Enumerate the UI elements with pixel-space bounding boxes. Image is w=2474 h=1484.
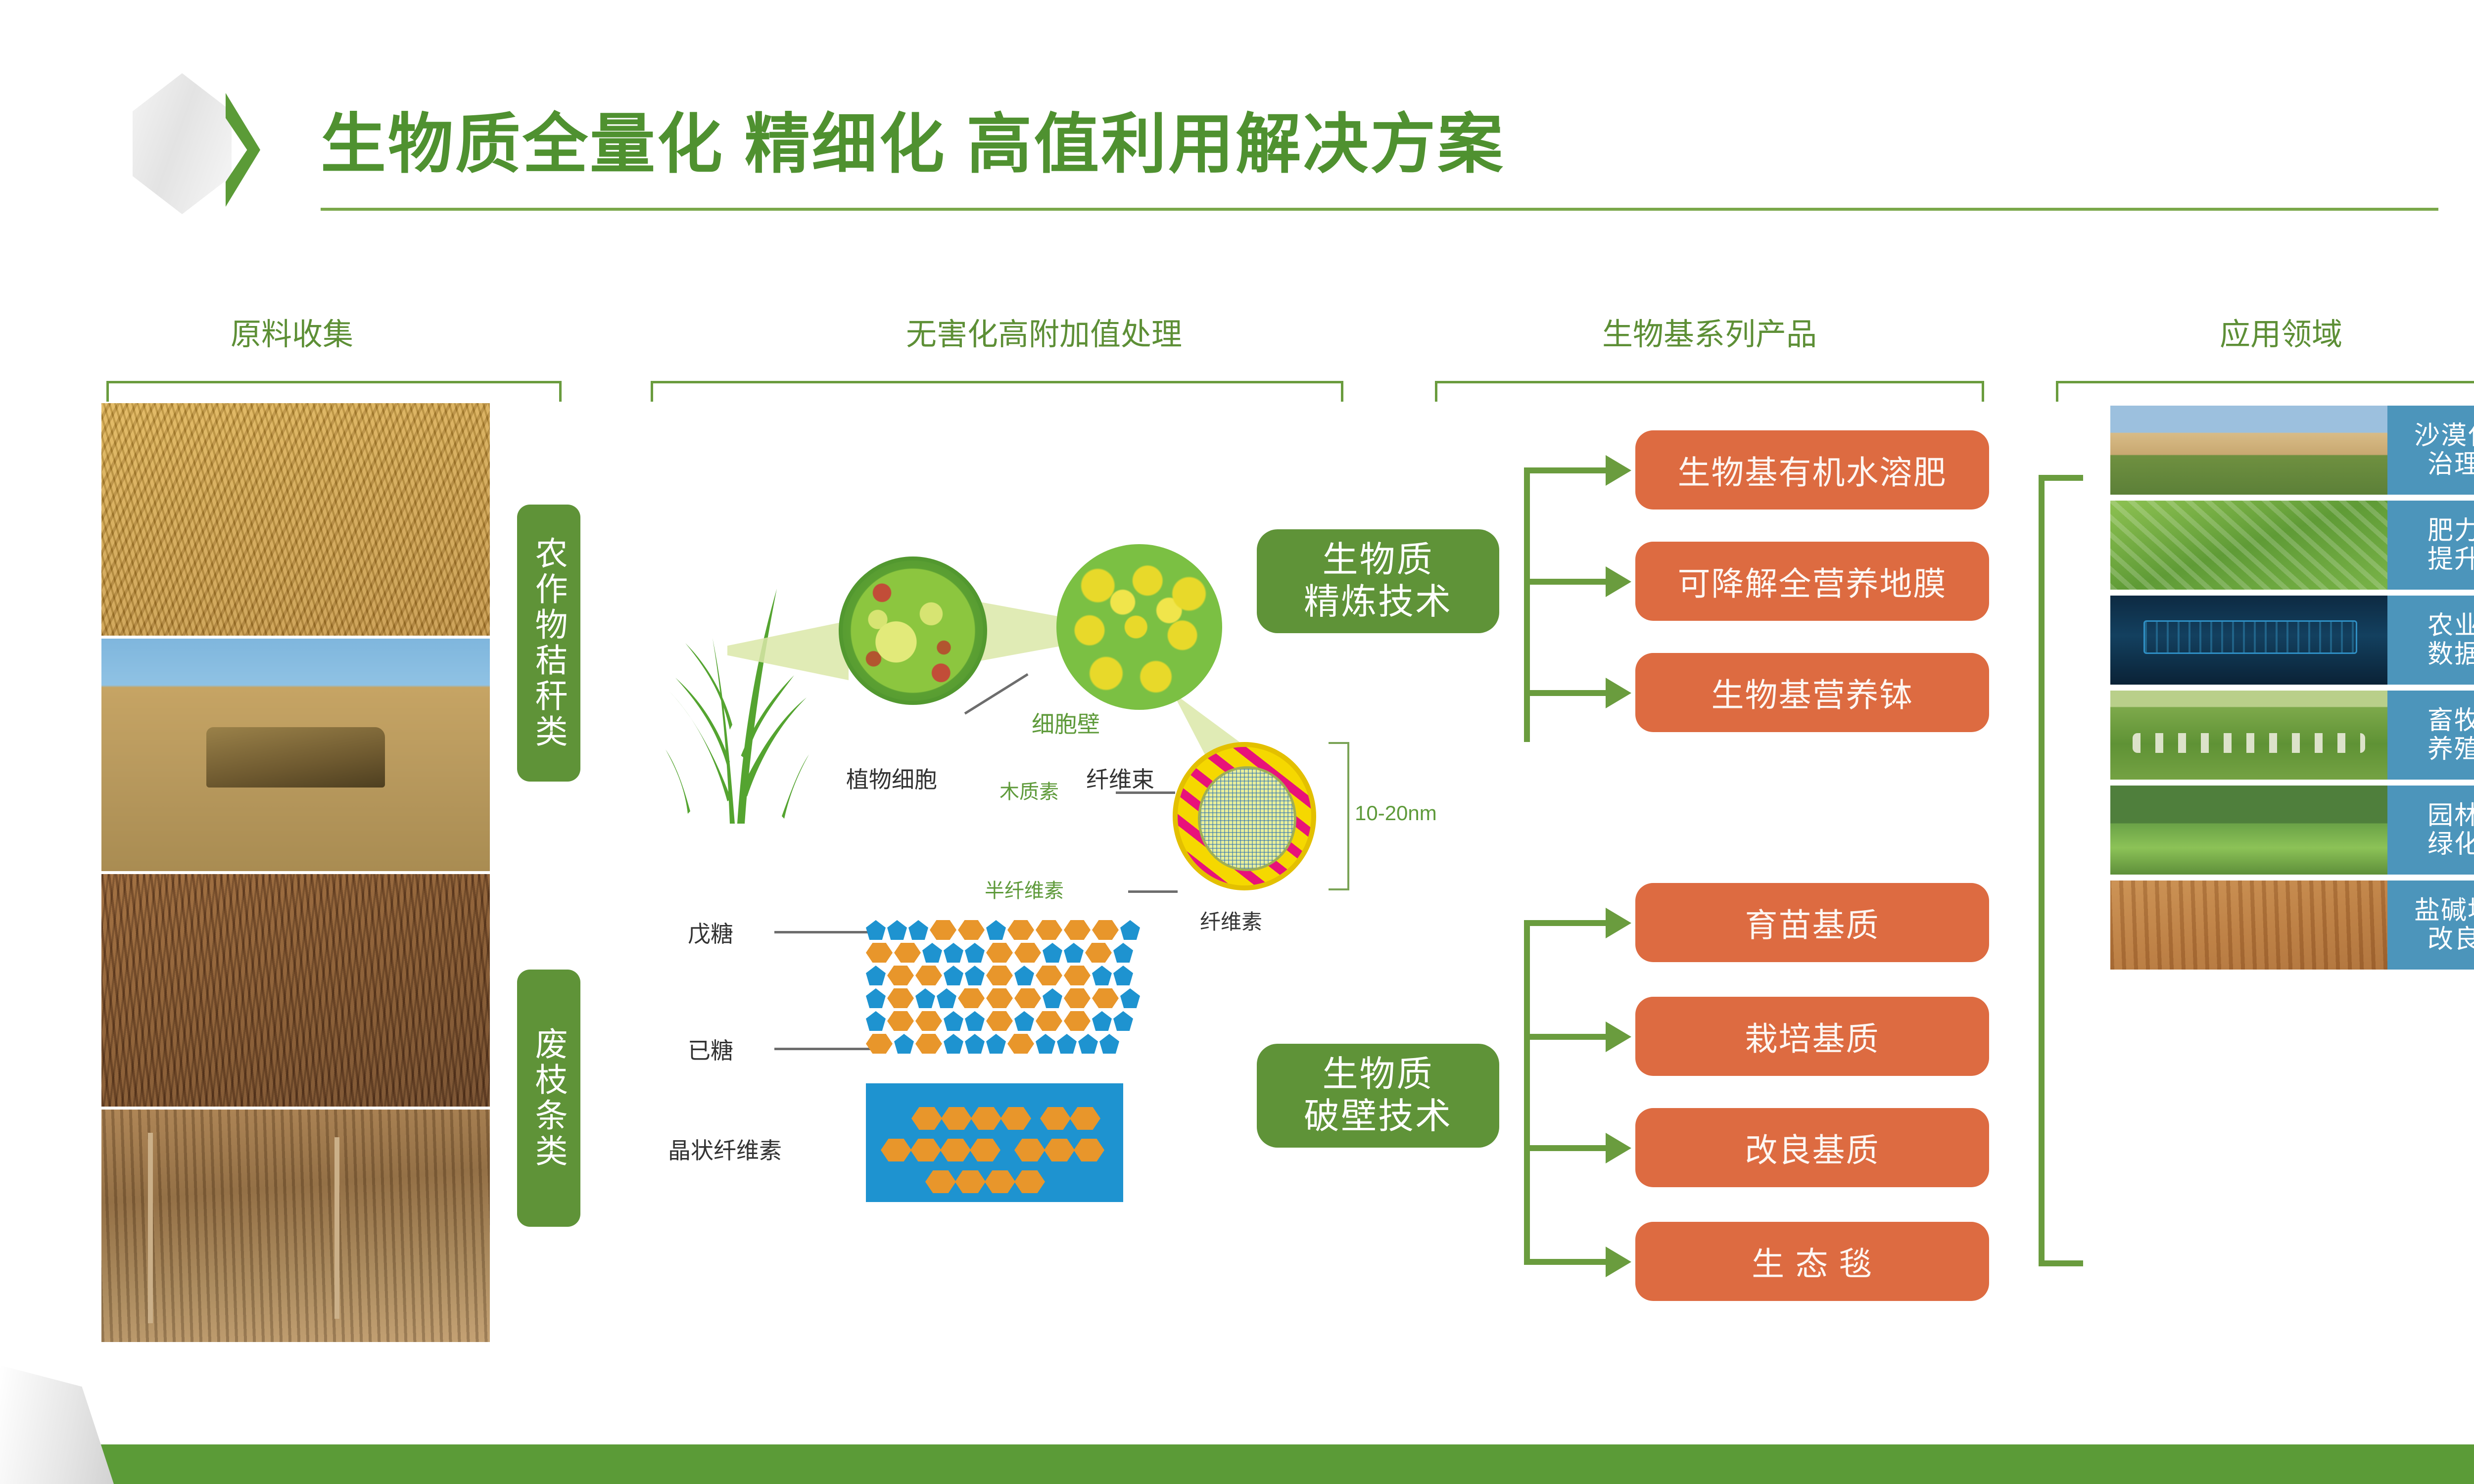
app-fertility-line1: 肥力 xyxy=(2427,516,2474,545)
tech-box-refining[interactable]: 生物质 精炼技术 xyxy=(1257,529,1499,633)
vineyard-pruning-photo xyxy=(101,1110,490,1342)
tech-box-refining-line2: 精炼技术 xyxy=(1304,581,1452,623)
label-fiber-bundle: 纤维束 xyxy=(1086,762,1154,794)
footer-bar xyxy=(0,1444,2474,1484)
product-box-improvement-substrate[interactable]: 改良基质 xyxy=(1635,1108,1989,1187)
arrow-head-b3 xyxy=(1606,1133,1631,1163)
connector-branch-a1 xyxy=(1524,467,1608,473)
tech-box-refining-line1: 生物质 xyxy=(1322,539,1433,581)
corn-stalk-photo xyxy=(101,403,490,636)
product-box-seedling-substrate[interactable]: 育苗基质 xyxy=(1635,883,1989,962)
application-tag-greening: 园林 绿化 xyxy=(2387,786,2474,875)
app-greening-line1: 园林 xyxy=(2427,801,2474,830)
arrow-head-a2 xyxy=(1606,566,1631,597)
app-livestock-line1: 畜牧 xyxy=(2427,706,2474,735)
page-header: 生物质全量化 精细化 高值利用解决方案 xyxy=(0,0,2474,237)
plant-grass-icon xyxy=(663,549,811,826)
agriculture-data-screen-photo xyxy=(2110,596,2387,685)
straw-bale-photo xyxy=(101,639,490,871)
arrow-head-a1 xyxy=(1606,455,1631,486)
product-box-biodegradable-mulch-film[interactable]: 可降解全营养地膜 xyxy=(1635,542,1989,621)
plant-cell-illustration xyxy=(839,556,987,705)
product-box-water-soluble-fertilizer[interactable]: 生物基有机水溶肥 xyxy=(1635,430,1989,510)
magnify-beam-2 xyxy=(975,594,1064,668)
application-tag-livestock: 畜牧 养殖 xyxy=(2387,691,2474,780)
label-lignin: 木质素 xyxy=(999,776,1059,804)
connector-branch-a2 xyxy=(1524,579,1608,585)
arrow-head-b2 xyxy=(1606,1021,1631,1052)
section-header-applications: 应用领域 xyxy=(2073,309,2474,354)
app-saline-line1: 盐碱地 xyxy=(2414,896,2474,925)
cellulose-fiber-cross-section xyxy=(1173,742,1316,890)
footer-wedge-decoration xyxy=(0,1365,114,1484)
cabbage-field-photo xyxy=(2110,501,2387,590)
fiber-bundle-illustration xyxy=(1056,544,1222,710)
section-header-raw-material: 原料收集 xyxy=(168,309,416,354)
dimension-bracket xyxy=(1329,742,1349,890)
landscape-greening-photo xyxy=(2110,786,2387,875)
desert-restoration-photo xyxy=(2110,406,2387,495)
arrow-head-b1 xyxy=(1606,908,1631,938)
connector-branch-b1 xyxy=(1524,920,1608,926)
category-label-crop-straw: 农作物秸秆类 xyxy=(517,505,580,782)
connector-trunk-a xyxy=(1524,467,1530,742)
app-livestock-line2: 养殖 xyxy=(2427,735,2474,764)
bracket-applications xyxy=(2056,381,2474,402)
section-header-products: 生物基系列产品 xyxy=(1425,309,1994,354)
application-tag-agridata: 农业 数据 xyxy=(2387,596,2474,685)
leader-line-lignin xyxy=(1116,791,1175,794)
product-box-cultivation-substrate[interactable]: 栽培基质 xyxy=(1635,997,1989,1076)
product-box-nutrition-pot[interactable]: 生物基营养钵 xyxy=(1635,653,1989,732)
app-saline-line2: 改良 xyxy=(2427,925,2474,954)
application-tag-fertility: 肥力 提升 xyxy=(2387,501,2474,590)
leader-line-hexose xyxy=(774,1048,871,1050)
raw-material-photo-strip xyxy=(101,403,490,1343)
app-agridata-line2: 数据 xyxy=(2427,640,2474,669)
connector-trunk-b xyxy=(1524,920,1530,1264)
label-fiber-dimension: 10-20nm xyxy=(1355,801,1437,825)
app-agridata-line1: 农业 xyxy=(2427,611,2474,640)
tech-box-breaking-line1: 生物质 xyxy=(1322,1054,1433,1096)
label-hemicellulose: 半纤维素 xyxy=(985,875,1064,903)
tech-box-breaking-line2: 破壁技术 xyxy=(1304,1096,1452,1138)
arrow-head-a3 xyxy=(1606,678,1631,708)
app-fertility-line2: 提升 xyxy=(2427,545,2474,574)
app-greening-line2: 绿化 xyxy=(2427,830,2474,859)
leader-line-pentose xyxy=(774,931,871,933)
product-box-ecological-blanket[interactable]: 生 态 毯 xyxy=(1635,1222,1989,1301)
label-crystalline-cellulose: 晶状纤维素 xyxy=(668,1133,782,1165)
hexagon-chevron-icon xyxy=(133,73,256,214)
connector-branch-b4 xyxy=(1524,1259,1608,1265)
connector-branch-b3 xyxy=(1524,1145,1608,1151)
app-desert-line1: 沙漠化 xyxy=(2414,421,2474,450)
label-hexose: 已糖 xyxy=(688,1033,733,1066)
category-label-waste-branches: 废枝条类 xyxy=(517,970,580,1227)
sugar-unit-grid xyxy=(866,920,1222,1059)
application-tag-saline: 盐碱地 改良 xyxy=(2387,881,2474,970)
application-tag-desert: 沙漠化 治理 xyxy=(2387,406,2474,495)
bracket-products-to-applications xyxy=(2039,475,2083,1266)
section-header-processing: 无害化高附加值处理 xyxy=(722,309,1366,354)
bracket-raw-material xyxy=(106,381,562,402)
label-cell-wall: 细胞壁 xyxy=(1032,706,1100,739)
crystalline-cellulose-panel xyxy=(866,1083,1123,1202)
connector-branch-a3 xyxy=(1524,690,1608,696)
bracket-products xyxy=(1435,381,1984,402)
title-divider xyxy=(321,208,2438,211)
saline-alkali-land-photo xyxy=(2110,881,2387,970)
tech-box-cell-wall-breaking[interactable]: 生物质 破壁技术 xyxy=(1257,1044,1499,1148)
sugar-chain-diagram: 戊糖 已糖 晶状纤维素 xyxy=(688,920,1242,1197)
page-title: 生物质全量化 精细化 高值利用解决方案 xyxy=(321,92,1505,186)
sheep-grazing-photo xyxy=(2110,691,2387,780)
leader-line-hemicellulose xyxy=(1128,890,1178,893)
label-pentose: 戊糖 xyxy=(688,916,733,949)
app-desert-line2: 治理 xyxy=(2427,450,2474,479)
connector-branch-b2 xyxy=(1524,1034,1608,1040)
arrow-head-b4 xyxy=(1606,1247,1631,1277)
leader-line-cell-wall xyxy=(964,673,1029,715)
label-plant-cell: 植物细胞 xyxy=(846,762,937,794)
dry-branches-photo xyxy=(101,874,490,1107)
